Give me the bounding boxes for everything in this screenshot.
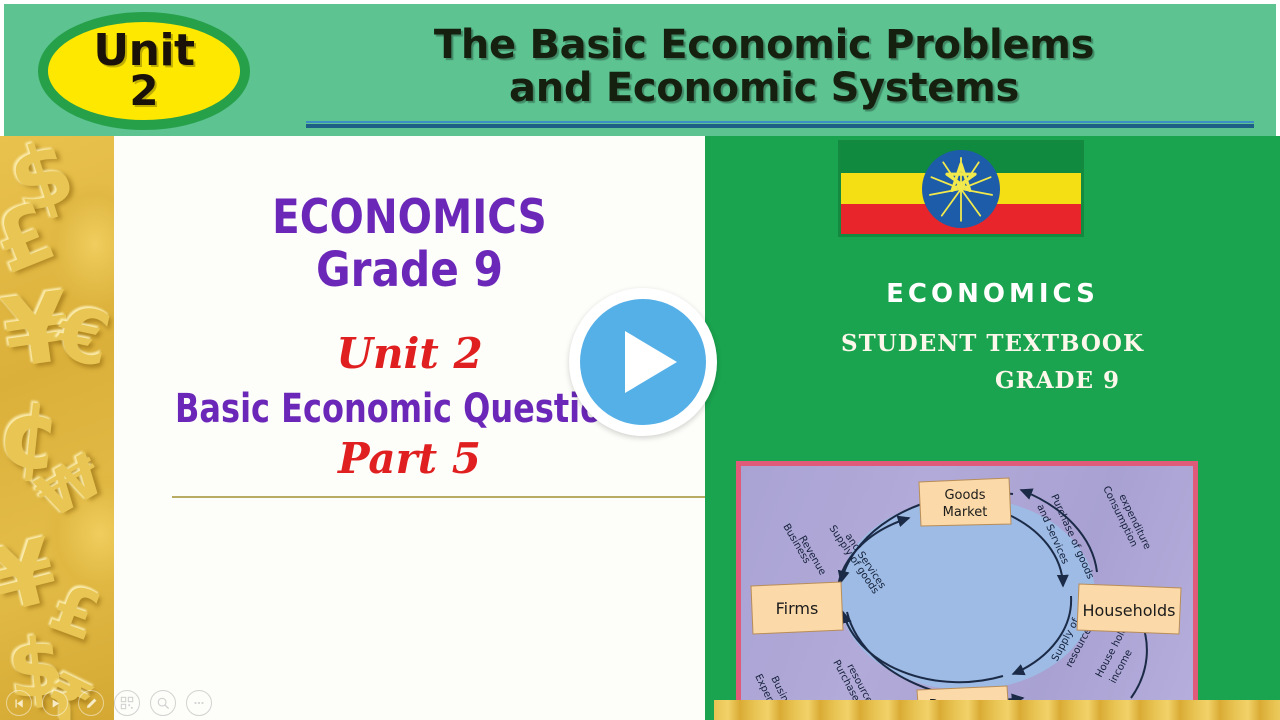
subject-title: ECONOMICS [155,194,663,241]
star-icon [924,152,998,226]
flag-emblem-star [922,150,1000,228]
unit-badge-number: 2 [129,72,158,111]
banner-title-line1: The Basic Economic Problems [274,24,1254,67]
bottom-gold-band [714,700,1280,720]
part-label: Part 5 [114,434,705,483]
cover-type: STUDENT TEXTBOOK [705,330,1280,357]
more-options-icon [192,696,206,710]
lesson-banner: Unit 2 The Basic Economic Problems and E… [0,0,1280,136]
node-households-label: Households [1082,601,1175,620]
slide-screen: $ £ ¥ ¢ ₩ € ¥ £ $ ₹ ECONOMICS Grade 9 Un… [0,0,1280,720]
cover-grade: GRADE 9 [705,367,1280,394]
unit-badge: Unit 2 [38,12,250,130]
node-goods-market: Goods Market [919,478,1011,526]
node-goods-market-line1: Goods [944,488,985,503]
cover-subject: ECONOMICS [705,279,1280,309]
divider-rule [172,496,705,498]
circular-flow-diagram: Business Revenue Supply of goods and Ser… [736,461,1198,720]
pen-icon [85,697,98,710]
pen-button[interactable] [78,690,104,716]
diagram-canvas: Business Revenue Supply of goods and Ser… [741,466,1193,715]
play-small-button[interactable] [42,690,68,716]
search-button[interactable] [150,690,176,716]
qr-code-icon [120,696,134,710]
more-button[interactable] [186,690,212,716]
previous-icon [13,697,26,710]
play-button-disc [580,299,706,425]
node-households: Households [1077,584,1181,634]
player-controls-bar [0,686,232,720]
banner-underline [306,121,1254,128]
ethiopian-flag [838,140,1084,237]
play-button[interactable] [569,288,717,436]
previous-button[interactable] [6,690,32,716]
play-icon [625,331,677,393]
grade-title: Grade 9 [149,246,669,294]
node-firms: Firms [751,582,843,634]
play-icon [49,697,62,710]
textbook-cover-panel: ECONOMICS STUDENT TEXTBOOK GRADE 9 [705,134,1280,720]
search-icon [156,696,170,710]
banner-title-line2: and Economic Systems [274,67,1254,110]
node-firms-label: Firms [776,599,819,618]
diagram-svg: Business Revenue Supply of goods and Ser… [741,466,1193,715]
banner-title: The Basic Economic Problems and Economic… [274,24,1254,110]
node-goods-market-line2: Market [943,505,988,520]
qr-button[interactable] [114,690,140,716]
gold-currency-sidebar: $ £ ¥ ¢ ₩ € ¥ £ $ ₹ [0,134,114,720]
